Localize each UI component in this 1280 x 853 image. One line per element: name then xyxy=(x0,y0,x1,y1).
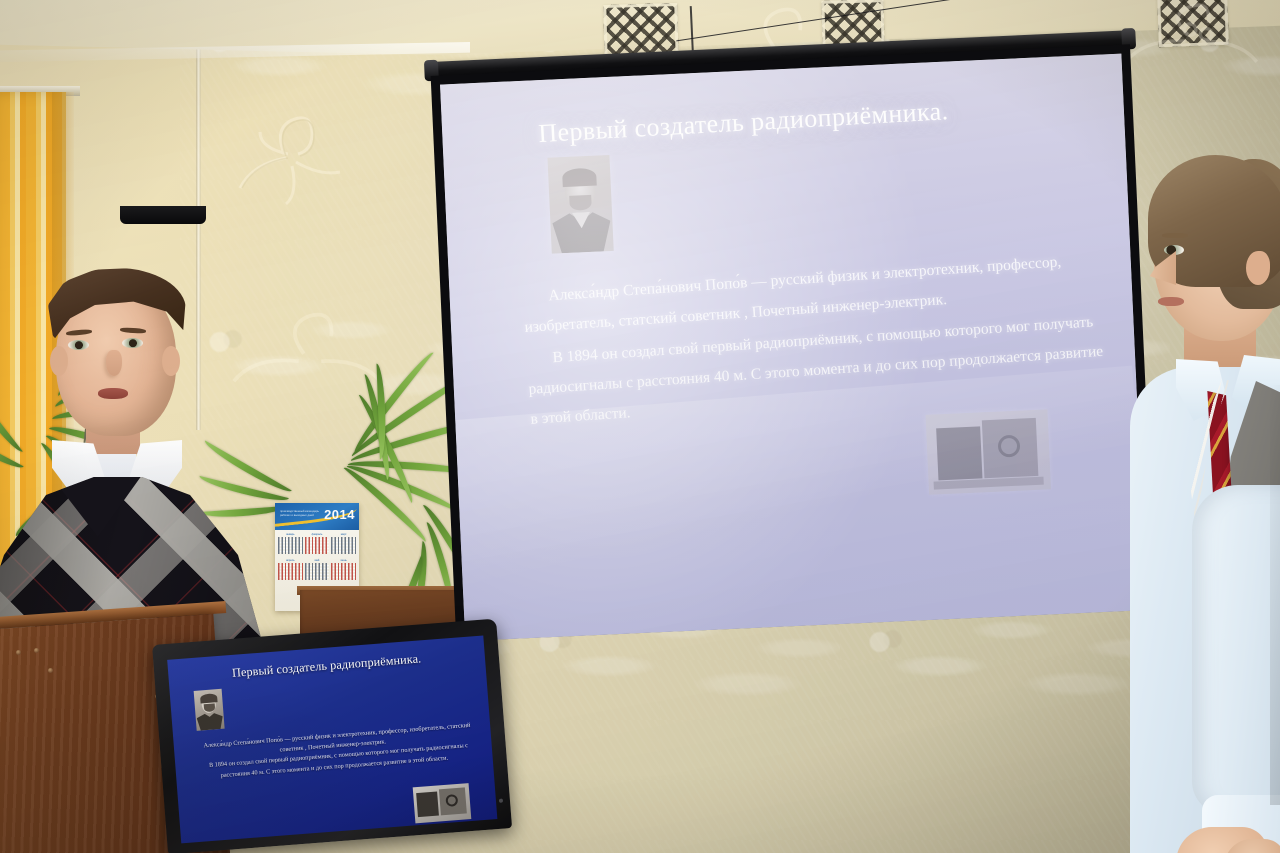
monitor-bezel: Первый создатель радиоприёмника. Алекса́… xyxy=(152,619,512,853)
slide-body-text: Алекса́ндр Степа́нович Попо́в — русский … xyxy=(522,245,1111,437)
listener-lips xyxy=(1158,297,1184,306)
monitor-stand xyxy=(120,206,206,224)
monitor-portrait-hair xyxy=(199,693,217,703)
presenter-ear-left xyxy=(50,346,68,376)
listener-brow xyxy=(1162,233,1188,238)
slide-title: Первый создатель радиоприёмника. xyxy=(538,88,1099,149)
presenter-mouth xyxy=(98,388,128,399)
radio-housing xyxy=(936,427,982,480)
projection-screen[interactable]: Первый создатель радиоприёмника. Алекса́… xyxy=(430,30,1166,652)
podium-screw xyxy=(16,650,21,655)
monitor-screen: Первый создатель радиоприёмника. Алекса́… xyxy=(167,636,497,844)
monitor-radio-housing xyxy=(416,791,438,816)
presenter-eye-right xyxy=(122,338,143,348)
listener-arm xyxy=(1192,485,1280,815)
calendar-year: 2014 xyxy=(324,507,355,522)
slide-radio-receiver-image xyxy=(926,409,1052,494)
projected-slide: Первый создатель радиоприёмника. Алекса́… xyxy=(440,54,1147,641)
classroom-presentation-photo: производственный календарь рабочих и вых… xyxy=(0,0,1280,853)
calendar-month: март xyxy=(331,533,356,557)
ceiling-vent-grille xyxy=(1157,0,1229,47)
monitor-radio-image xyxy=(413,783,472,823)
podium-screw xyxy=(48,668,53,673)
monitor-portrait-image xyxy=(194,689,225,731)
computer-monitor[interactable]: Первый создатель радиоприёмника. Алекса́… xyxy=(152,619,512,853)
monitor-slide-title: Первый создатель радиоприёмника. xyxy=(168,647,485,686)
portrait-beard xyxy=(569,195,592,211)
screen-frame: Первый создатель радиоприёмника. Алекса́… xyxy=(431,44,1156,641)
portrait-hair xyxy=(562,167,597,187)
screen-fabric: Первый создатель радиоприёмника. Алекса́… xyxy=(440,54,1147,641)
presenter-ear-right xyxy=(162,346,180,376)
calendar-month: май xyxy=(305,559,330,583)
listener-ear xyxy=(1246,251,1270,285)
calendar-month: июнь xyxy=(331,559,356,583)
podium-screw xyxy=(34,648,39,653)
monitor-portrait-body xyxy=(196,712,223,731)
presenter-eye-left xyxy=(68,340,89,350)
listener-person xyxy=(1120,155,1280,853)
presenter-nose xyxy=(106,350,122,376)
calendar-month: февраль xyxy=(305,533,330,557)
monitor-power-led[interactable] xyxy=(499,799,503,803)
slide-portrait-image xyxy=(547,155,613,254)
monitor-slide-body: Алекса́ндр Степа́нович Попо́в — русский … xyxy=(184,720,483,783)
